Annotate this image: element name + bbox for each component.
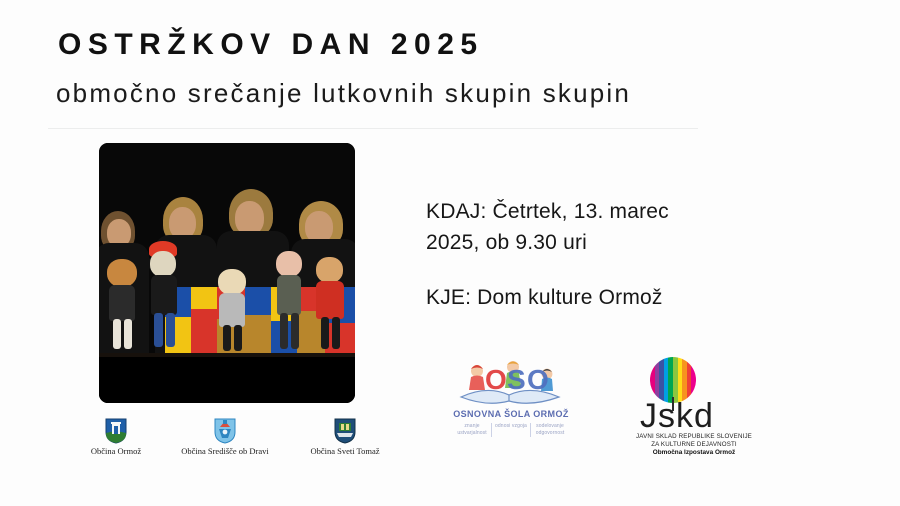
school-tagline-col-1: znanje ustvarjalnost [453, 423, 491, 437]
municipality-logos: Občina Ormož Občina Središče ob Dravi [78, 418, 378, 470]
crest-icon-ormoz [105, 418, 127, 444]
svg-text:O: O [485, 364, 507, 395]
school-logo-graphic: O S O [447, 357, 575, 415]
municipality-sveti-tomaz: Občina Sveti Tomaž [290, 418, 400, 456]
municipality-ormoz: Občina Ormož [78, 418, 154, 456]
school-tagline-col-2: odnosi vzgoja [491, 423, 530, 437]
jskd-line-3: Območna Izpostava Ormož [628, 449, 760, 456]
page-title: OSTRŽKOV DAN 2025 [58, 28, 484, 62]
stage-floor [99, 357, 355, 403]
puppet-3-glasses [215, 269, 249, 353]
school-logo-tagline: znanje ustvarjalnost odnosi vzgoja sodel… [453, 423, 569, 437]
puppet-2-red-hat [147, 249, 181, 353]
event-where: KJE: Dom kulture Ormož [426, 282, 826, 313]
municipality-label: Občina Sveti Tomaž [290, 446, 400, 456]
puppet-1 [105, 259, 141, 353]
municipality-label: Občina Središče ob Dravi [160, 446, 290, 456]
poster-canvas: OSTRŽKOV DAN 2025 območno srečanje lutko… [0, 0, 900, 506]
svg-text:S: S [507, 364, 526, 395]
jskd-wordmark: Jskd [640, 397, 714, 436]
municipality-label: Občina Ormož [78, 446, 154, 456]
event-when-line-1: KDAJ: Četrtek, 13. marec [426, 196, 826, 227]
school-logo-os-ormoz: O S O OSNOVNA ŠOLA ORMOŽ znanje ustvarja… [447, 357, 575, 457]
jskd-logo: Jskd JAVNI SKLAD REPUBLIKE SLOVENIJE ZA … [628, 357, 760, 457]
page-subtitle: območno srečanje lutkovnih skupin skupin [56, 78, 631, 109]
jskd-line-2: ZA KULTURNE DEJAVNOSTI [628, 441, 760, 448]
school-tagline-col-3: sodelovanje odgovornost [530, 423, 569, 437]
puppet-show-photo [99, 143, 355, 403]
crest-icon-sveti-tomaz [334, 418, 356, 444]
jskd-line-1: JAVNI SKLAD REPUBLIKE SLOVENIJE [628, 433, 760, 440]
school-logo-name: OSNOVNA ŠOLA ORMOŽ [447, 409, 575, 419]
event-when-line-2: 2025, ob 9.30 uri [426, 227, 826, 258]
puppet-5-red [313, 257, 347, 353]
header-divider [48, 128, 698, 129]
puppet-4 [273, 251, 305, 353]
svg-text:O: O [527, 364, 549, 395]
municipality-sredisce-ob-dravi: Občina Središče ob Dravi [160, 418, 290, 456]
event-details: KDAJ: Četrtek, 13. marec 2025, ob 9.30 u… [426, 196, 826, 313]
crest-icon-sredisce [214, 418, 236, 444]
